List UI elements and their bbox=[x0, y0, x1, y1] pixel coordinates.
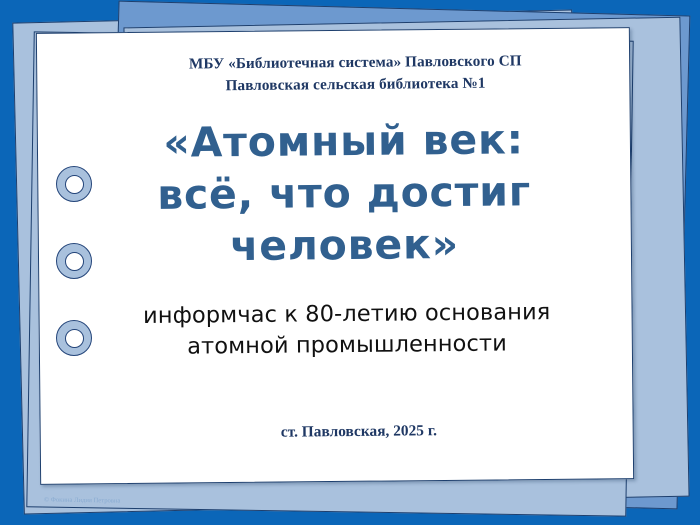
binder-ring-icon-3 bbox=[56, 320, 92, 356]
binder-ring-icon-2 bbox=[56, 243, 92, 279]
binder-ring-icon-1 bbox=[56, 166, 92, 202]
presentation-slide: МБУ «Библиотечная система» Павловского С… bbox=[0, 0, 700, 525]
watermark-credit: © Фокина Лидия Петровна bbox=[44, 496, 120, 504]
slide-card bbox=[36, 27, 634, 485]
